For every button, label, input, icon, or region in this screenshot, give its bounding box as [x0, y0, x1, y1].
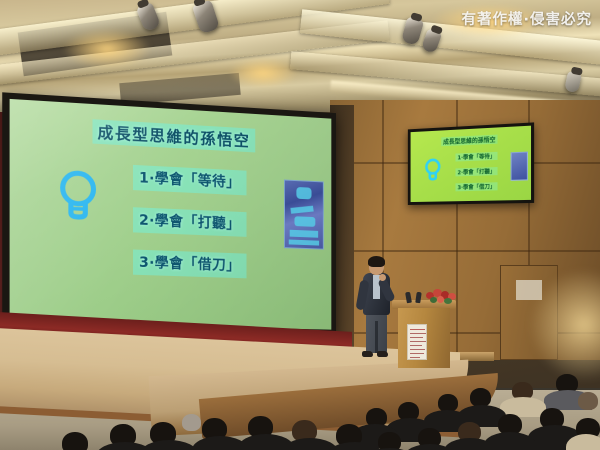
secondary-bullet-3: 3‧學會「借刀」 — [456, 182, 498, 191]
lightbulb-icon — [423, 156, 442, 184]
slide-bullet-1: 1‧學會「等待」 — [133, 165, 246, 195]
ceiling-light-glow — [62, 28, 152, 70]
lightbulb-icon — [55, 165, 100, 228]
secondary-bullet-1: 1‧學會「等待」 — [456, 152, 498, 162]
slide-bullet-list: 1‧學會「等待」 2‧學會「打聽」 3‧學會「借刀」 — [133, 165, 246, 278]
main-projection-screen: 成長型思維的孫悟空 1‧學會「等待」 2‧學會「打聽」 3‧學會「借刀」 — [2, 92, 336, 336]
presenter-hand — [379, 274, 386, 281]
wall-warm-light — [530, 270, 600, 380]
secondary-slide-title: 成長型思維的孫悟空 — [441, 135, 497, 147]
flower-arrangement — [424, 288, 460, 304]
podium-body — [398, 308, 450, 368]
monkey-king-image — [284, 179, 324, 249]
copyright-watermark: 有著作權·侵害必究 — [461, 8, 592, 29]
presenter-shoe — [377, 351, 388, 357]
presenter-legs — [366, 313, 387, 353]
slide-title: 成長型思維的孫悟空 — [93, 119, 256, 152]
ceiling-light-glow — [228, 58, 298, 88]
slide-bullet-3: 3‧學會「借刀」 — [133, 250, 246, 279]
slide-bullet-2: 2‧學會「打聽」 — [133, 207, 246, 237]
secondary-bullet-list: 1‧學會「等待」 2‧學會「打聽」 3‧學會「借刀」 — [456, 152, 498, 191]
podium-microphones — [404, 292, 426, 304]
main-slide: 成長型思維的孫悟空 1‧學會「等待」 2‧學會「打聽」 3‧學會「借刀」 — [10, 99, 332, 330]
wooden-podium — [398, 300, 450, 368]
photo-scene: 成長型思維的孫悟空 1‧學會「等待」 2‧學會「打聽」 3‧學會「借刀」 成長型… — [0, 0, 600, 450]
presenter-shoe — [362, 351, 373, 357]
presenter-hair — [368, 256, 385, 267]
audience — [0, 372, 600, 450]
event-poster — [407, 324, 427, 360]
monkey-king-image — [511, 152, 528, 181]
secondary-bullet-2: 2‧學會「打聽」 — [456, 167, 498, 176]
secondary-slide: 成長型思維的孫悟空 1‧學會「等待」 2‧學會「打聽」 3‧學會「借刀」 — [411, 126, 531, 202]
secondary-projection-screen: 成長型思維的孫悟空 1‧學會「等待」 2‧學會「打聽」 3‧學會「借刀」 — [408, 122, 534, 205]
